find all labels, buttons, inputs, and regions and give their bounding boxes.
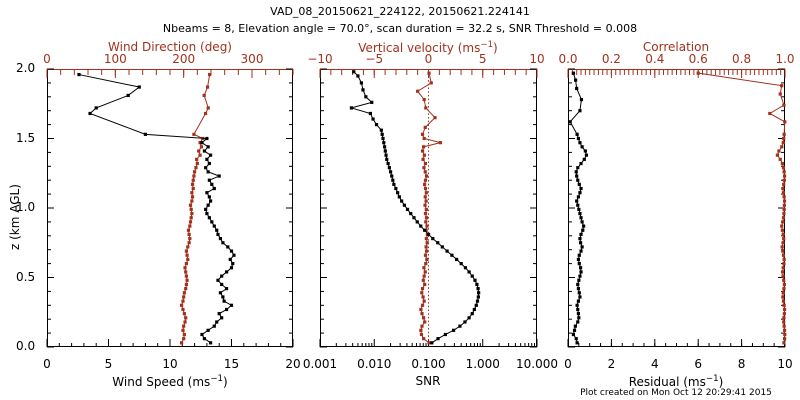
axis-tick-label: 15 (224, 357, 239, 371)
axis-tick-label: 0.010 (357, 357, 391, 371)
series-wind-speed (77, 73, 235, 344)
axis-tick-label: 20 (285, 357, 300, 371)
axis-tick-label: 8 (738, 357, 746, 371)
axis-tick-label: 10 (529, 52, 544, 66)
axis-tick-label: 4 (651, 357, 659, 371)
series-snr (350, 70, 480, 344)
series-vertical-velocity (416, 72, 442, 345)
axis-tick-label: 300 (241, 52, 264, 66)
axis-tick-label: 0.5 (16, 270, 35, 284)
axis-tick-label: 100 (104, 52, 127, 66)
axis-tick-label: 6 (694, 357, 702, 371)
axis-tick-label: 0.2 (602, 52, 621, 66)
axis-tick-label: 10.000 (516, 357, 558, 371)
axis-tick-label: 5 (105, 357, 113, 371)
axis-tick-label: 2 (608, 357, 616, 371)
axis-tick-label: 10 (162, 357, 177, 371)
axis-tick-label: −10 (307, 52, 332, 66)
axis-tick-label: 1.000 (466, 357, 500, 371)
axis-tick-label: 0.0 (16, 339, 35, 353)
axis-tick-label: 1.5 (16, 131, 35, 145)
axis-tick-label: 2.0 (16, 61, 35, 75)
axis-tick-label: 1.0 (16, 200, 35, 214)
axis-tick-label: 0.0 (558, 52, 577, 66)
axis-tick-label: 0.4 (645, 52, 664, 66)
axis-tick-label: 0.8 (732, 52, 751, 66)
axis-tick-label: 0 (425, 52, 433, 66)
axis-tick-label: 200 (172, 52, 195, 66)
axis-tick-label: 1.0 (775, 52, 794, 66)
axis-tick-label: 10 (777, 357, 792, 371)
axis-tick-label: 0.001 (303, 357, 337, 371)
axis-tick-label: 0 (43, 52, 51, 66)
series-correlation (697, 72, 787, 345)
axis-tick-label: 5 (479, 52, 487, 66)
axis-tick-label: 0.100 (411, 357, 445, 371)
axis-tick-label: 0 (43, 357, 51, 371)
axis-tick-label: 0 (564, 357, 572, 371)
axis-tick-label: 0.6 (689, 52, 708, 66)
axis-tick-label: −5 (365, 52, 383, 66)
vad-plot-figure: VAD_08_20150621_224122, 20150621.224141 … (0, 0, 800, 400)
